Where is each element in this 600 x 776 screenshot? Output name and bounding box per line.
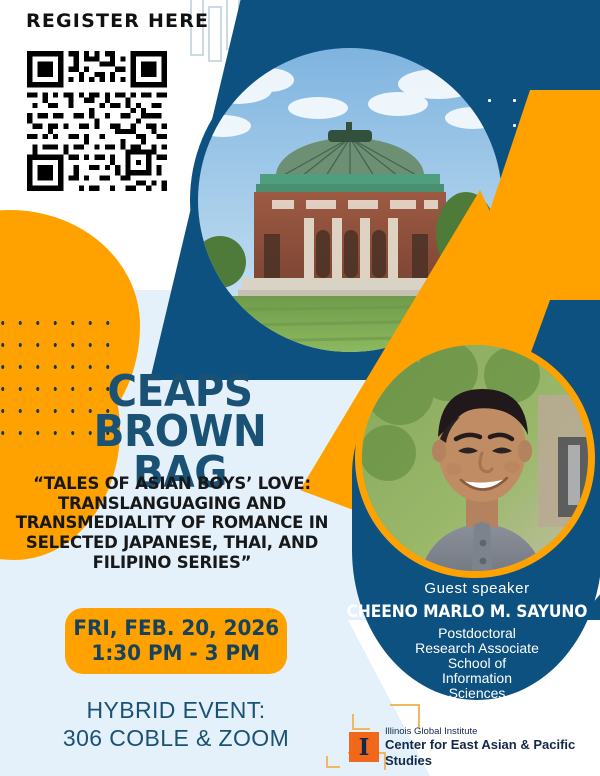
- speaker-affiliation: Postdoctoral Research Associate School o…: [352, 626, 600, 702]
- speaker-portrait-photo: [355, 338, 595, 578]
- affiliation-line: Sciences: [352, 686, 600, 701]
- affiliation-line: Postdoctoral: [352, 626, 600, 641]
- register-here-label: REGISTER HERE: [26, 10, 209, 32]
- affiliation-line: Research Associate: [352, 641, 600, 656]
- block-i-glyph: I: [359, 736, 370, 759]
- event-poster: REGISTER HERE: [0, 0, 600, 776]
- affiliation-line: Information: [352, 671, 600, 686]
- affiliation-line: School of: [352, 656, 600, 671]
- logo-text-block: Illinois Global Institute Center for Eas…: [385, 726, 600, 769]
- venue-info: HYBRID EVENT: 306 COBLE & ZOOM: [20, 696, 332, 752]
- bracket-decor-top: [390, 704, 420, 728]
- event-time: 1:30 PM - 3 PM: [92, 641, 261, 666]
- speaker-name: CHEENO MARLO M. SAYUNO: [344, 602, 590, 621]
- bracket-decor-bottom-left: [326, 756, 340, 768]
- venue-line-1: HYBRID EVENT:: [20, 696, 332, 724]
- column-bar-decor-2: [208, 6, 222, 62]
- date-time-badge: FRI, FEB. 20, 2026 1:30 PM - 3 PM: [65, 608, 287, 674]
- ceaps-logo: I Illinois Global Institute Center for E…: [349, 726, 600, 769]
- venue-line-2: 306 COBLE & ZOOM: [20, 724, 332, 752]
- talk-title: “TALES OF ASIAN BOYS’ LOVE: TRANSLANGUAG…: [12, 474, 332, 572]
- qr-code[interactable]: [22, 46, 172, 196]
- illinois-block-i-icon: I: [349, 732, 379, 762]
- guest-speaker-label: Guest speaker: [352, 580, 600, 597]
- logo-institute-name: Illinois Global Institute: [385, 726, 600, 737]
- event-date: FRI, FEB. 20, 2026: [73, 616, 279, 641]
- logo-center-name: Center for East Asian & Pacific Studies: [385, 737, 600, 768]
